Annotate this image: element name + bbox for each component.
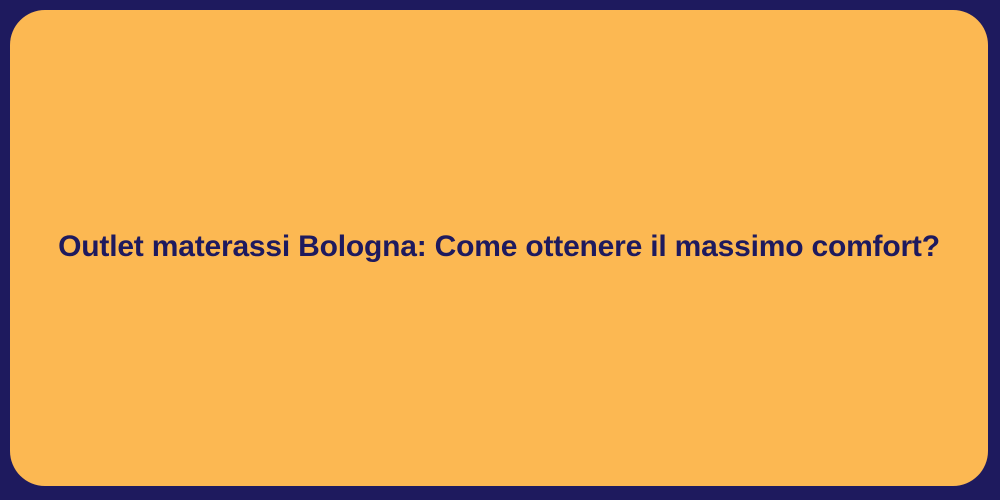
card-panel: Outlet materassi Bologna: Come ottenere … — [10, 10, 988, 486]
card-title: Outlet materassi Bologna: Come ottenere … — [58, 228, 940, 266]
card-frame: Outlet materassi Bologna: Come ottenere … — [0, 0, 1000, 500]
